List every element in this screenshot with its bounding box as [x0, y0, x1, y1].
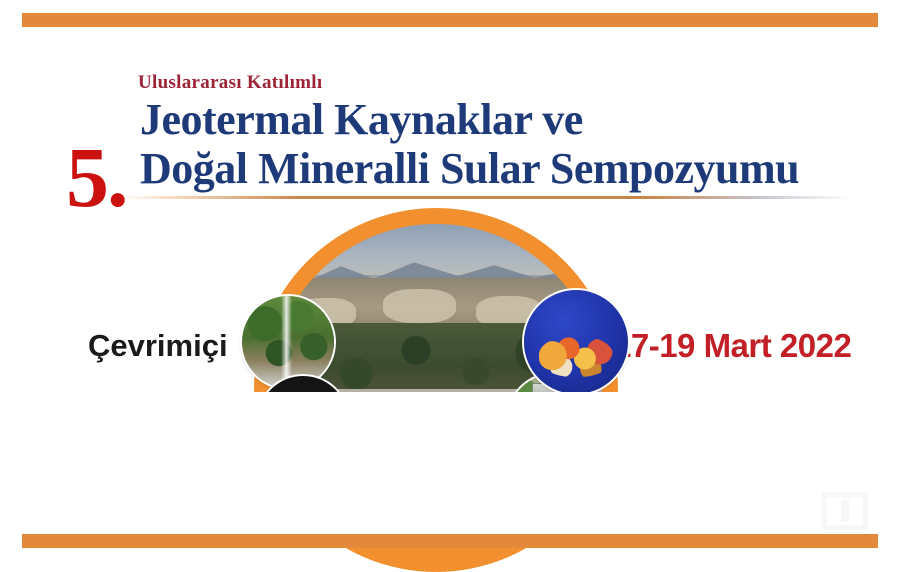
symposium-poster: 5. Uluslararası Katılımlı Jeotermal Kayn… — [0, 0, 900, 572]
bubble-mineral-samples — [524, 290, 628, 394]
bubble-greenhouse-agriculture — [242, 296, 334, 388]
format-label: Çevrimiçi — [88, 328, 228, 364]
arc-bottom-mask — [236, 392, 636, 542]
kicker-text: Uluslararası Katılımlı — [138, 72, 322, 94]
site-watermark-logo-icon — [822, 492, 868, 530]
title-divider — [120, 196, 850, 199]
poster-header: 5. Uluslararası Katılımlı Jeotermal Kayn… — [0, 58, 900, 203]
photo-sky — [270, 224, 602, 275]
page-title-line-1: Jeotermal Kaynaklar ve — [140, 94, 583, 145]
page-title-line-2: Doğal Mineralli Sular Sempozyumu — [140, 143, 799, 194]
top-orange-rule — [22, 13, 878, 27]
photo-collage — [236, 206, 636, 536]
date-label: 17-19 Mart 2022 — [613, 327, 851, 365]
bottom-orange-rule — [22, 534, 878, 548]
edition-ordinal: 5. — [66, 134, 127, 220]
